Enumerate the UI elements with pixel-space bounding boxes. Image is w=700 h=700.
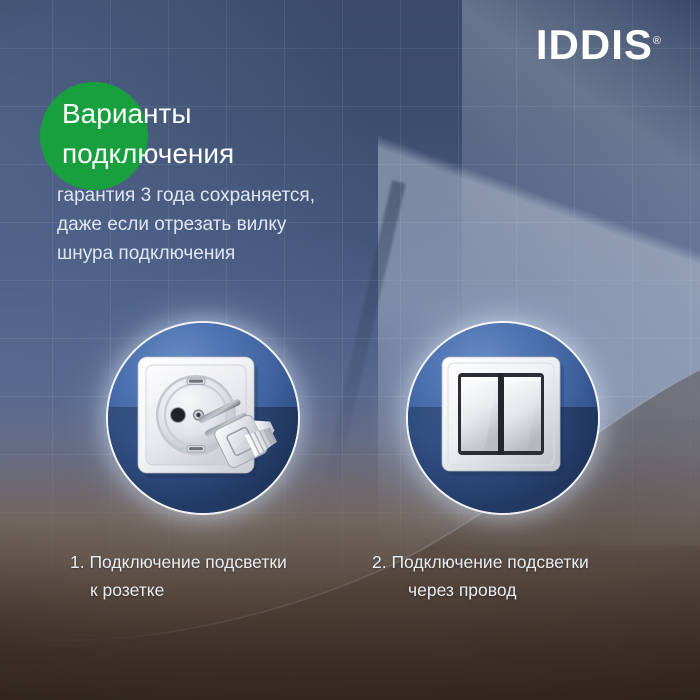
promo-image: IDDIS® Варианты подключения гарантия 3 г…: [0, 0, 700, 700]
background-vignette: [0, 0, 700, 700]
